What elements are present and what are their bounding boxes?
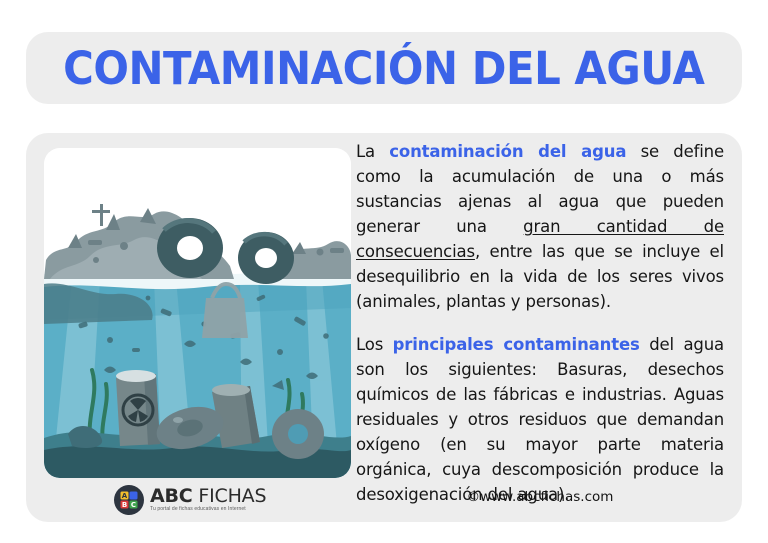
website-credit: ©www.abcfichas.com xyxy=(356,489,724,505)
toxic-barrel-radioactive xyxy=(116,370,160,446)
abc-fichas-logo-mark: A B C xyxy=(114,485,144,515)
p2-tail: del agua son los siguientes: Basuras, de… xyxy=(356,335,724,504)
abc-fichas-logo: A B C ABC FICHAS Tu portal de fichas edu… xyxy=(114,485,266,515)
logo-tagline: Tu portal de fichas educativas en Intern… xyxy=(150,507,266,513)
p2-lead: Los xyxy=(356,335,393,354)
tire-surface-1 xyxy=(157,218,223,278)
illustration-panel xyxy=(44,148,351,478)
tire-submerged-2 xyxy=(272,409,324,459)
p1-lead: La xyxy=(356,142,389,161)
logo-name-bold: ABC xyxy=(150,485,193,507)
logo-name: ABC FICHAS xyxy=(150,487,266,507)
p1-highlight: contaminación del agua xyxy=(389,142,626,161)
water-pollution-illustration xyxy=(44,148,351,478)
svg-text:C: C xyxy=(131,501,136,509)
text-column: La contaminación del agua se define como… xyxy=(356,139,724,507)
tire-surface-2 xyxy=(238,232,294,284)
svg-text:A: A xyxy=(122,492,128,500)
logo-name-rest: FICHAS xyxy=(193,485,267,507)
paragraph-1: La contaminación del agua se define como… xyxy=(356,139,724,315)
title-banner: CONTAMINACIÓN DEL AGUA xyxy=(26,32,742,104)
paragraph-2: Los principales contaminantes del agua s… xyxy=(356,332,724,508)
p2-highlight: principales contaminantes xyxy=(393,335,640,354)
page-title: CONTAMINACIÓN DEL AGUA xyxy=(63,46,704,91)
content-card: A B C ABC FICHAS Tu portal de fichas edu… xyxy=(26,133,742,522)
svg-text:B: B xyxy=(122,501,127,509)
